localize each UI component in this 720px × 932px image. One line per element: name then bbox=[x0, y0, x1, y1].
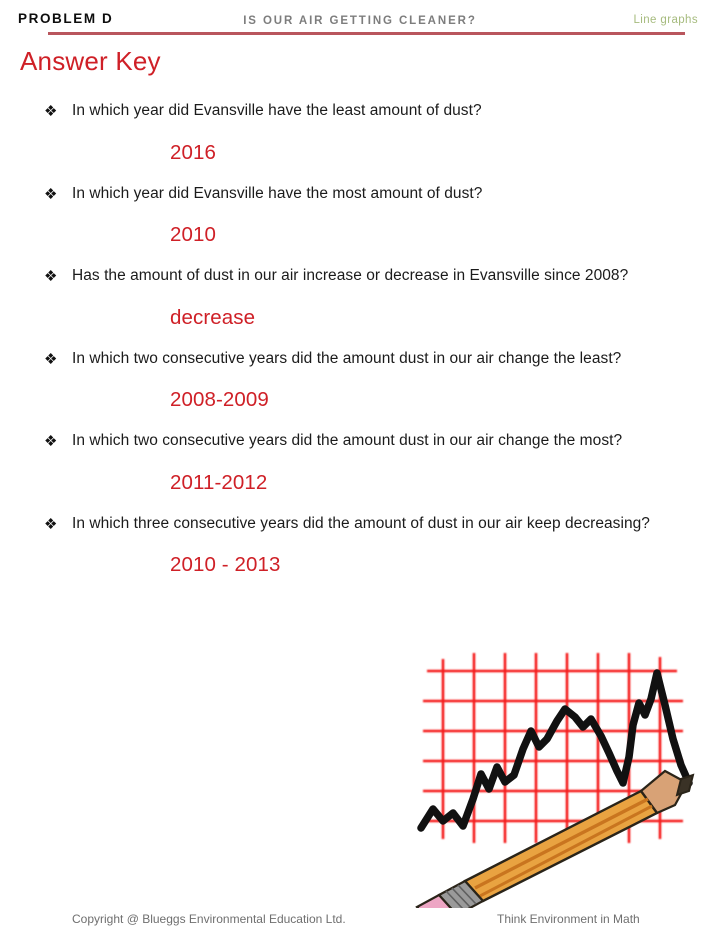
question-text: Has the amount of dust in our air increa… bbox=[72, 265, 692, 288]
question-text: In which three consecutive years did the… bbox=[72, 513, 692, 536]
diamond-bullet-icon: ❖ bbox=[44, 514, 57, 536]
question-row: ❖ Has the amount of dust in our air incr… bbox=[0, 265, 720, 288]
answer-text: decrease bbox=[170, 306, 720, 330]
answer-text: 2011-2012 bbox=[170, 471, 720, 495]
diamond-bullet-icon: ❖ bbox=[44, 431, 57, 453]
answer-text: 2010 - 2013 bbox=[170, 553, 720, 577]
qa-item: ❖ Has the amount of dust in our air incr… bbox=[0, 265, 720, 348]
page-title: Answer Key bbox=[20, 46, 161, 77]
line-graph-pencil-clipart bbox=[405, 643, 705, 908]
question-text: In which two consecutive years did the a… bbox=[72, 430, 692, 453]
page-footer: Copyright @ Blueggs Environmental Educat… bbox=[0, 912, 720, 932]
question-answer-list: ❖ In which year did Evansville have the … bbox=[0, 100, 720, 577]
question-text: In which two consecutive years did the a… bbox=[72, 348, 692, 371]
topic-label: Line graphs bbox=[634, 14, 699, 26]
header-divider bbox=[48, 32, 685, 35]
pencil-stripe bbox=[475, 799, 648, 888]
question-row: ❖ In which two consecutive years did the… bbox=[0, 430, 720, 453]
answer-text: 2010 bbox=[170, 223, 720, 247]
page-header: PROBLEM D IS OUR AIR GETTING CLEANER? Li… bbox=[0, 0, 720, 34]
footer-copyright: Copyright @ Blueggs Environmental Educat… bbox=[72, 912, 346, 926]
question-text: In which year did Evansville have the le… bbox=[72, 100, 692, 123]
qa-item: ❖ In which two consecutive years did the… bbox=[0, 348, 720, 431]
diamond-bullet-icon: ❖ bbox=[44, 266, 57, 288]
answer-text: 2016 bbox=[170, 141, 720, 165]
question-row: ❖ In which two consecutive years did the… bbox=[0, 348, 720, 371]
question-row: ❖ In which year did Evansville have the … bbox=[0, 183, 720, 206]
qa-item: ❖ In which year did Evansville have the … bbox=[0, 183, 720, 266]
question-row: ❖ In which year did Evansville have the … bbox=[0, 100, 720, 123]
answer-text: 2008-2009 bbox=[170, 388, 720, 412]
diamond-bullet-icon: ❖ bbox=[44, 349, 57, 371]
question-row: ❖ In which three consecutive years did t… bbox=[0, 513, 720, 536]
qa-item: ❖ In which three consecutive years did t… bbox=[0, 513, 720, 578]
footer-tagline: Think Environment in Math bbox=[497, 912, 640, 926]
diamond-bullet-icon: ❖ bbox=[44, 101, 57, 123]
worksheet-title: IS OUR AIR GETTING CLEANER? bbox=[0, 15, 720, 27]
diamond-bullet-icon: ❖ bbox=[44, 184, 57, 206]
qa-item: ❖ In which two consecutive years did the… bbox=[0, 430, 720, 513]
qa-item: ❖ In which year did Evansville have the … bbox=[0, 100, 720, 183]
question-text: In which year did Evansville have the mo… bbox=[72, 183, 692, 206]
